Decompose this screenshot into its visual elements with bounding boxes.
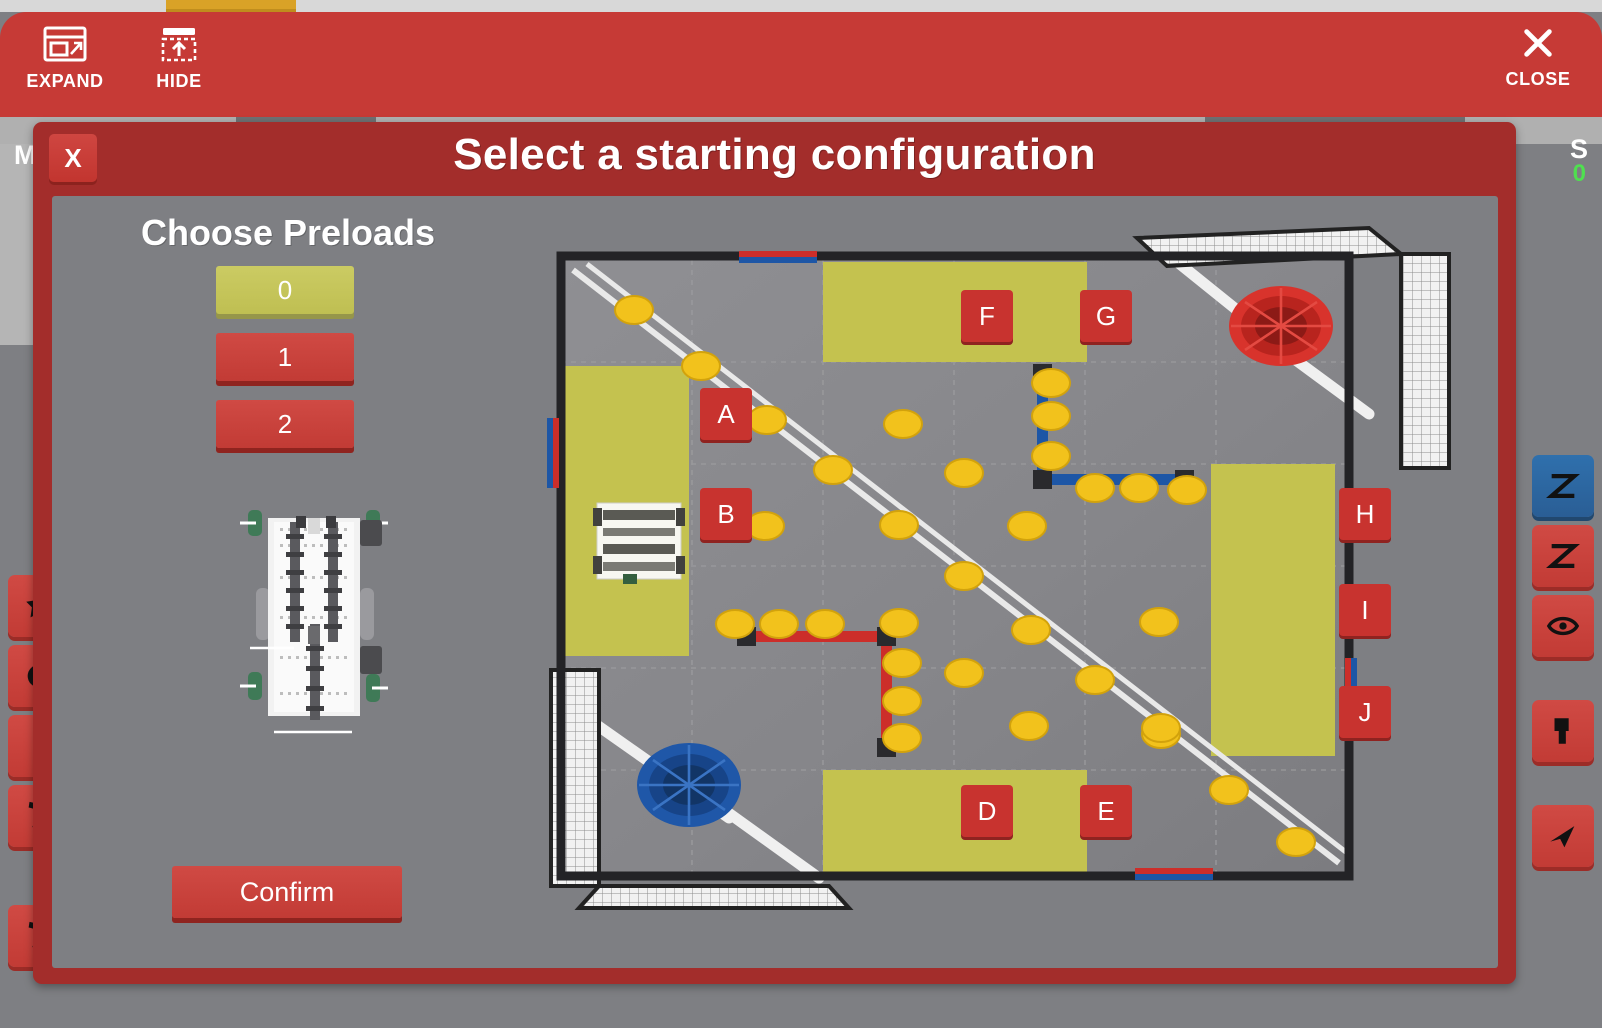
start-position-I[interactable]: I <box>1339 584 1391 636</box>
robot-preview <box>234 496 394 738</box>
bg-active-tab[interactable] <box>166 0 296 12</box>
bg-tool-eye[interactable] <box>1532 595 1594 657</box>
field-robot <box>593 503 685 584</box>
starting-configuration-dialog: X Select a starting configuration Choose… <box>33 122 1516 984</box>
marker-icon <box>1546 714 1580 748</box>
expand-button[interactable]: EXPAND <box>26 26 104 92</box>
path-z-red-icon <box>1546 539 1580 573</box>
bg-tool-path-blue[interactable] <box>1532 455 1594 517</box>
preload-option-1[interactable]: 1 <box>216 333 354 381</box>
expand-window-icon <box>43 26 87 62</box>
start-position-J[interactable]: J <box>1339 686 1391 738</box>
start-position-D[interactable]: D <box>961 785 1013 837</box>
arrow-icon <box>1546 819 1580 853</box>
close-window-button[interactable]: CLOSE <box>1498 26 1578 90</box>
bg-tool-arrow[interactable] <box>1532 805 1594 867</box>
start-position-H[interactable]: H <box>1339 488 1391 540</box>
path-z-icon <box>1546 469 1580 503</box>
close-x-icon <box>1521 26 1555 60</box>
start-position-G[interactable]: G <box>1080 290 1132 342</box>
field-diagram[interactable]: A B F G H I J D E <box>539 218 1459 933</box>
start-position-F[interactable]: F <box>961 290 1013 342</box>
dialog-body: Choose Preloads 0 1 2 <box>52 196 1498 968</box>
confirm-button[interactable]: Confirm <box>172 866 402 918</box>
bg-status-dot: 0 <box>1573 160 1586 188</box>
close-label: CLOSE <box>1505 69 1570 90</box>
preload-option-0[interactable]: 0 <box>216 266 354 314</box>
preload-options: 0 1 2 <box>216 266 354 448</box>
hide-upload-icon <box>159 26 199 62</box>
start-position-A[interactable]: A <box>700 388 752 440</box>
start-position-E[interactable]: E <box>1080 785 1132 837</box>
dialog-header: X Select a starting configuration <box>33 122 1516 196</box>
eye-icon <box>1546 609 1580 643</box>
bg-tool-path-red[interactable] <box>1532 525 1594 587</box>
zone-fg <box>823 262 1087 362</box>
hide-label: HIDE <box>156 71 201 92</box>
window-toolbar: EXPAND HIDE CLOSE <box>0 12 1602 117</box>
red-goal <box>1229 286 1333 366</box>
preload-option-2[interactable]: 2 <box>216 400 354 448</box>
zone-de <box>823 770 1087 872</box>
choose-preloads-heading: Choose Preloads <box>78 212 498 254</box>
blue-goal <box>637 743 741 827</box>
app-root: M S 0 <box>0 0 1602 1028</box>
dialog-title: Select a starting configuration <box>33 130 1516 180</box>
start-position-B[interactable]: B <box>700 488 752 540</box>
bg-tool-marker[interactable] <box>1532 700 1594 762</box>
expand-label: EXPAND <box>26 71 103 92</box>
hide-button[interactable]: HIDE <box>142 26 216 92</box>
zone-hij <box>1211 464 1335 756</box>
